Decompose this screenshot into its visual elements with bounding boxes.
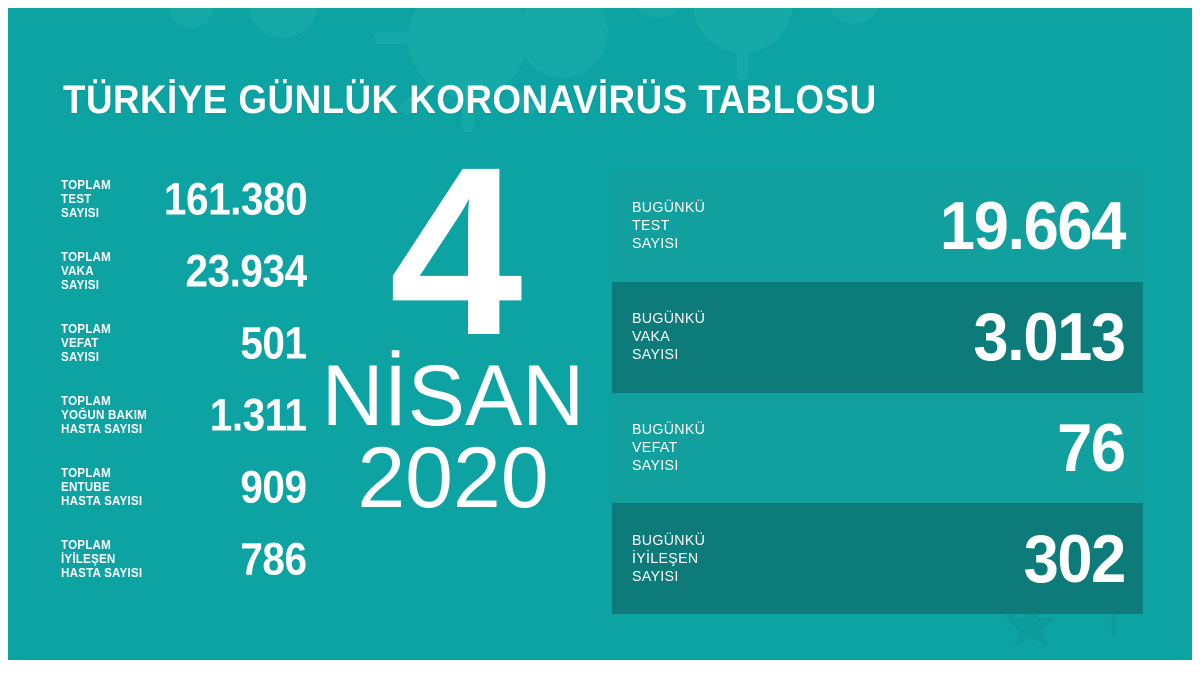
daily-stat-row: BUGÜNKÜ VAKA SAYISI 3.013	[612, 282, 1143, 393]
total-stat-label: TOPLAM VEFAT SAYISI	[61, 322, 111, 364]
daily-stat-value: 302	[1024, 525, 1125, 593]
total-stat-label: TOPLAM YOĞUN BAKIM HASTA SAYISI	[61, 394, 147, 436]
total-stat-value: 23.934	[186, 249, 307, 294]
total-stat-row: TOPLAM YOĞUN BAKIM HASTA SAYISI 1.311	[48, 379, 288, 451]
infographic-board: TÜRKİYE GÜNLÜK KORONAVİRÜS TABLOSU TOPLA…	[8, 8, 1192, 660]
daily-stat-value: 76	[1057, 414, 1125, 482]
total-stat-row: TOPLAM VAKA SAYISI 23.934	[48, 235, 288, 307]
total-stat-row: TOPLAM TEST SAYISI 161.380	[48, 163, 288, 235]
total-stat-label: TOPLAM TEST SAYISI	[61, 178, 111, 220]
total-stat-row: TOPLAM VEFAT SAYISI 501	[48, 307, 288, 379]
daily-stat-label: BUGÜNKÜ TEST SAYISI	[632, 199, 705, 253]
daily-stat-row: BUGÜNKÜ İYİLEŞEN SAYISI 302	[612, 503, 1143, 614]
date-year: 2020	[308, 438, 598, 520]
total-stat-label: TOPLAM VAKA SAYISI	[61, 250, 111, 292]
daily-stats-panel: BUGÜNKÜ TEST SAYISI 19.664 BUGÜNKÜ VAKA …	[612, 171, 1143, 614]
coronavirus-daily-table-infographic: TÜRKİYE GÜNLÜK KORONAVİRÜS TABLOSU TOPLA…	[0, 0, 1200, 675]
daily-stat-label: BUGÜNKÜ İYİLEŞEN SAYISI	[632, 532, 705, 586]
decorative-blob	[168, 8, 214, 28]
daily-stat-value: 19.664	[940, 192, 1125, 260]
total-stat-label: TOPLAM ENTUBE HASTA SAYISI	[61, 466, 142, 508]
total-stat-row: TOPLAM ENTUBE HASTA SAYISI 909	[48, 451, 288, 523]
total-stat-value: 161.380	[164, 177, 307, 222]
total-stat-value: 501	[241, 321, 307, 366]
daily-stat-label: BUGÜNKÜ VEFAT SAYISI	[632, 421, 705, 475]
date-day: 4	[308, 148, 598, 354]
total-stat-value: 1.311	[210, 393, 307, 438]
daily-stat-row: BUGÜNKÜ TEST SAYISI 19.664	[612, 171, 1143, 282]
report-date: 4 NİSAN 2020	[308, 148, 598, 520]
page-title: TÜRKİYE GÜNLÜK KORONAVİRÜS TABLOSU	[63, 80, 877, 120]
daily-stat-value: 3.013	[974, 303, 1125, 371]
date-month: NİSAN	[308, 356, 598, 438]
decorative-blob	[828, 8, 880, 24]
coronavirus-icon	[668, 8, 818, 78]
total-stat-value: 786	[241, 537, 307, 582]
decorative-blob	[628, 8, 688, 18]
daily-stat-row: BUGÜNKÜ VEFAT SAYISI 76	[612, 393, 1143, 504]
decorative-blob	[248, 8, 318, 38]
daily-stat-label: BUGÜNKÜ VAKA SAYISI	[632, 310, 705, 364]
total-stat-label: TOPLAM İYİLEŞEN HASTA SAYISI	[61, 538, 142, 580]
total-stat-row: TOPLAM İYİLEŞEN HASTA SAYISI 786	[48, 523, 288, 595]
total-stat-value: 909	[241, 465, 307, 510]
totals-column: TOPLAM TEST SAYISI 161.380 TOPLAM VAKA S…	[48, 163, 288, 595]
decorative-blob	[518, 8, 608, 78]
